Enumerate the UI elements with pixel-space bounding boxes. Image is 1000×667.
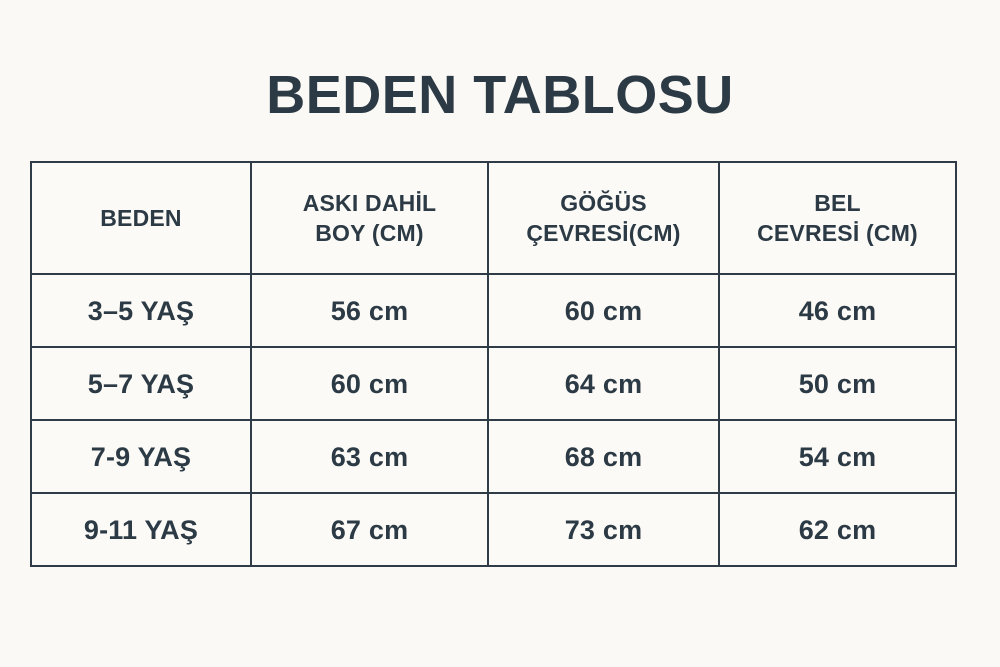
cell-beden: 7-9 YAŞ	[31, 420, 251, 493]
column-header-bel-line-1: BEL	[720, 188, 955, 218]
table-body: 3–5 YAŞ 56 cm 60 cm 46 cm 5–7 YAŞ 60 cm …	[31, 274, 956, 566]
cell-beden: 5–7 YAŞ	[31, 347, 251, 420]
cell-bel: 46 cm	[719, 274, 956, 347]
cell-bel: 62 cm	[719, 493, 956, 566]
cell-bel: 54 cm	[719, 420, 956, 493]
column-header-gogus-line-2: ÇEVRESİ(CM)	[489, 218, 718, 248]
cell-boy: 60 cm	[251, 347, 488, 420]
table-header: BEDEN ASKI DAHİL BOY (CM) GÖĞÜS ÇEVRESİ(…	[31, 162, 956, 274]
table-row: 3–5 YAŞ 56 cm 60 cm 46 cm	[31, 274, 956, 347]
cell-boy: 56 cm	[251, 274, 488, 347]
column-header-beden-line-1: BEDEN	[32, 203, 250, 233]
column-header-gogus-line-1: GÖĞÜS	[489, 188, 718, 218]
table-row: 7-9 YAŞ 63 cm 68 cm 54 cm	[31, 420, 956, 493]
size-chart-table: BEDEN ASKI DAHİL BOY (CM) GÖĞÜS ÇEVRESİ(…	[30, 161, 957, 567]
cell-bel: 50 cm	[719, 347, 956, 420]
column-header-boy-line-2: BOY (CM)	[252, 218, 487, 248]
cell-boy: 67 cm	[251, 493, 488, 566]
cell-beden: 3–5 YAŞ	[31, 274, 251, 347]
table-row: 5–7 YAŞ 60 cm 64 cm 50 cm	[31, 347, 956, 420]
column-header-boy-line-1: ASKI DAHİL	[252, 188, 487, 218]
cell-beden: 9-11 YAŞ	[31, 493, 251, 566]
cell-gogus: 64 cm	[488, 347, 719, 420]
table-row: 9-11 YAŞ 67 cm 73 cm 62 cm	[31, 493, 956, 566]
cell-gogus: 73 cm	[488, 493, 719, 566]
cell-gogus: 60 cm	[488, 274, 719, 347]
column-header-gogus: GÖĞÜS ÇEVRESİ(CM)	[488, 162, 719, 274]
column-header-beden: BEDEN	[31, 162, 251, 274]
table-header-row: BEDEN ASKI DAHİL BOY (CM) GÖĞÜS ÇEVRESİ(…	[31, 162, 956, 274]
page-title: BEDEN TABLOSU	[0, 61, 1000, 129]
size-chart-page: BEDEN TABLOSU BEDEN ASKI DAHİL BOY (CM) …	[0, 0, 1000, 667]
column-header-bel: BEL CEVRESİ (CM)	[719, 162, 956, 274]
column-header-bel-line-2: CEVRESİ (CM)	[720, 218, 955, 248]
cell-gogus: 68 cm	[488, 420, 719, 493]
cell-boy: 63 cm	[251, 420, 488, 493]
column-header-boy: ASKI DAHİL BOY (CM)	[251, 162, 488, 274]
